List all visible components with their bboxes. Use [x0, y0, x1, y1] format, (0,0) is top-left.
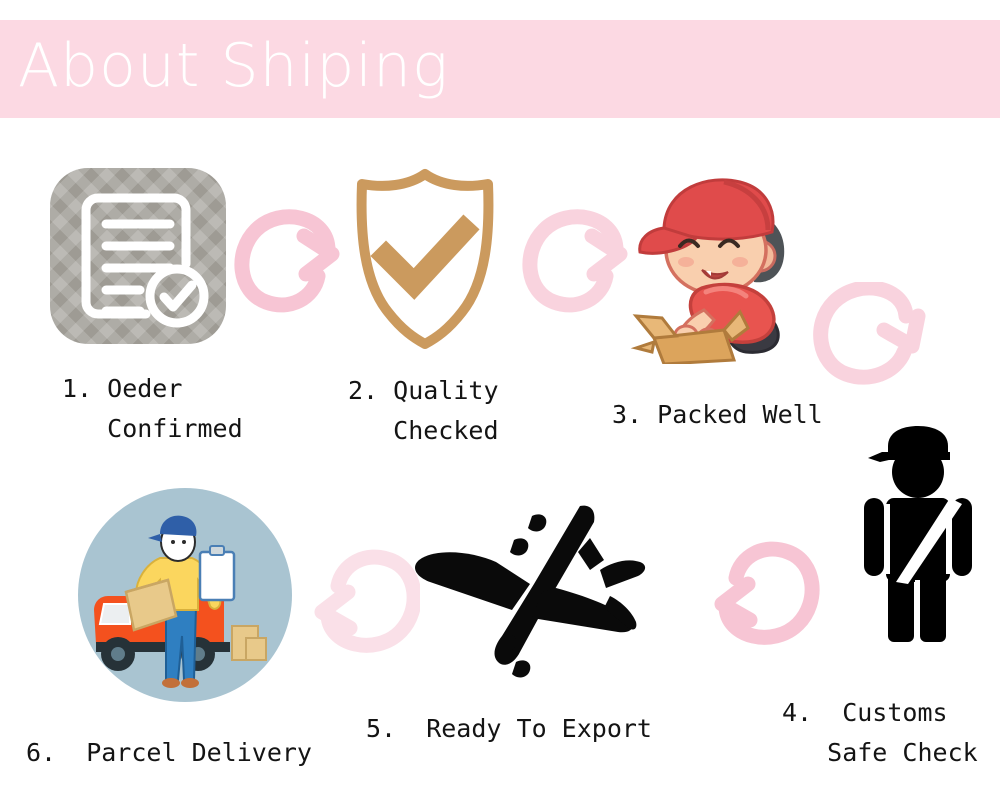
- step-1-label-line1: 1. Oeder: [62, 372, 182, 405]
- delivery-truck-worker-icon: [74, 484, 296, 710]
- step-3-label-line1: 3. Packed Well: [612, 398, 823, 431]
- customs-officer-icon: [858, 424, 976, 648]
- arrow-step5-to-step6: [302, 542, 420, 662]
- shield-check-icon: [336, 164, 514, 354]
- step-2-label-line1: 2. Quality: [348, 374, 499, 407]
- step-5-label-line1: 5. Ready To Export: [366, 712, 652, 745]
- page-title: About Shiping: [18, 36, 449, 96]
- step-2-label-line2: Checked: [348, 414, 499, 447]
- step-4-label-line1: 4. Customs: [782, 696, 948, 729]
- worker-packing-box-icon: [628, 172, 818, 368]
- arrow-step1-to-step2: [232, 208, 352, 327]
- airplane-icon: [404, 492, 676, 692]
- shipping-infographic: About Shiping 1. Oeder Confirmed: [0, 0, 1000, 800]
- document-check-icon: [50, 168, 226, 348]
- step-4-label-line2: Safe Check: [782, 736, 978, 769]
- arrow-step3-to-step4: [812, 282, 934, 398]
- step-1-label-line2: Confirmed: [62, 412, 243, 445]
- step-6-label-line1: 6. Parcel Delivery: [26, 736, 312, 769]
- arrow-step2-to-step3: [520, 208, 640, 327]
- arrow-step4-to-step5: [700, 532, 822, 654]
